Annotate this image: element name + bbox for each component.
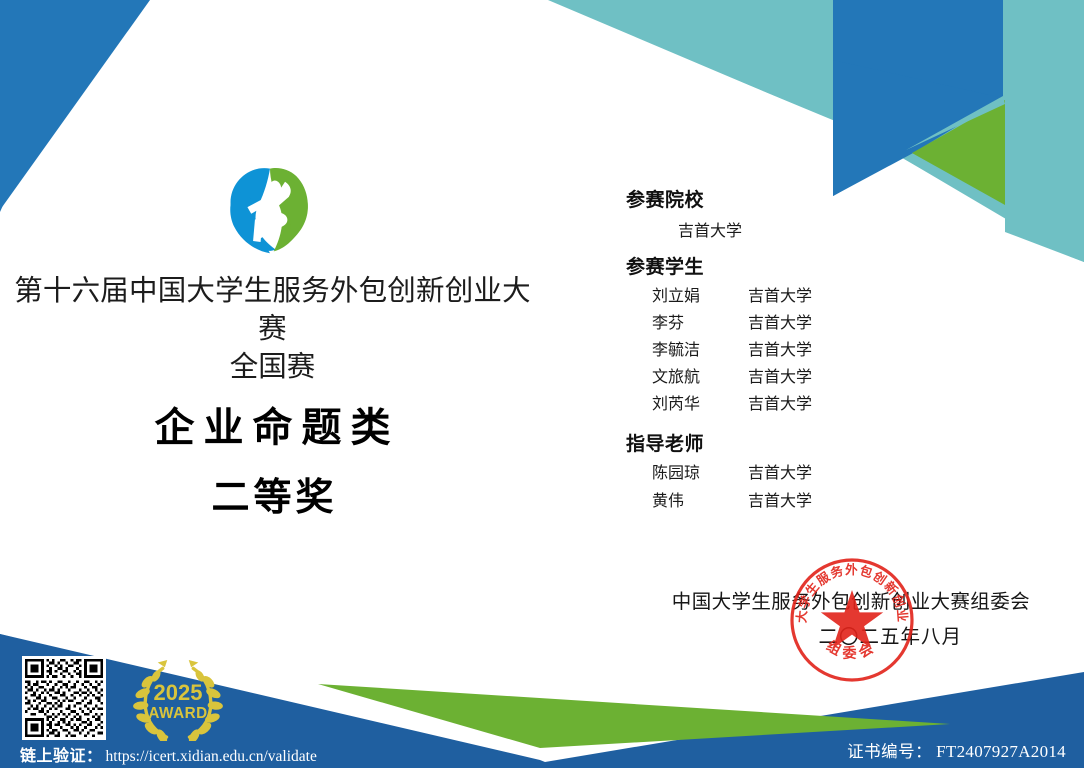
student-row: 李芬 吉首大学 xyxy=(600,310,1020,337)
shape-top-left-blue-band-2 xyxy=(0,0,150,210)
issuer-block: 中国大学生服务外包创新创业大赛组委会 二〇二五年八月 xyxy=(600,587,1030,652)
certificate-number: 证书编号： FT2407927A2014 xyxy=(847,738,1066,762)
student-row: 李毓洁 吉首大学 xyxy=(600,337,1020,364)
issuer-date: 二〇二五年八月 xyxy=(600,622,1030,652)
student-school: 吉首大学 xyxy=(748,391,812,418)
certificate-number-label: 证书编号： xyxy=(847,738,932,762)
qr-code-icon[interactable] xyxy=(25,659,103,737)
shape-top-left-blue xyxy=(0,0,400,215)
shape-top-teal-left xyxy=(78,0,540,180)
shape-right-blue-v xyxy=(833,60,1003,196)
contest-title-block: 第十六届中国大学生服务外包创新创业大赛 全国赛 xyxy=(0,272,545,386)
student-row: 刘立娟 吉首大学 xyxy=(600,283,1020,310)
contest-stage: 全国赛 xyxy=(0,348,545,386)
student-row: 刘芮华 吉首大学 xyxy=(600,391,1020,418)
school-name: 吉首大学 xyxy=(600,216,1020,247)
student-school: 吉首大学 xyxy=(748,283,812,310)
teacher-row: 黄伟 吉首大学 xyxy=(600,488,1020,516)
award-badge: 2025 AWARD xyxy=(130,655,226,741)
section-students: 参赛学生 刘立娟 吉首大学 李芬 吉首大学 李毓洁 吉首大学 文旅航 吉首大学 … xyxy=(600,253,1020,418)
issuer-organization: 中国大学生服务外包创新创业大赛组委会 xyxy=(600,587,1030,617)
teacher-row: 陈园琼 吉首大学 xyxy=(600,460,1020,488)
shape-right-teal-sliver xyxy=(906,96,1005,150)
award-category: 企业命题类 xyxy=(0,400,545,456)
student-name: 刘立娟 xyxy=(652,283,748,310)
section-heading-school: 参赛院校 xyxy=(600,186,1020,216)
badge-label: AWARD xyxy=(148,705,207,722)
verification-url[interactable]: https://icert.xidian.edu.cn/validate xyxy=(106,748,317,766)
verification-label: 链上验证： xyxy=(20,742,103,766)
participants-panel: 参赛院校 吉首大学 参赛学生 刘立娟 吉首大学 李芬 吉首大学 李毓洁 吉首大学… xyxy=(600,186,1020,518)
student-name: 李毓洁 xyxy=(652,337,748,364)
teacher-school: 吉首大学 xyxy=(748,488,812,516)
student-school: 吉首大学 xyxy=(748,337,812,364)
verification-qr[interactable] xyxy=(22,656,106,740)
shape-right-blue-ribbon-tail xyxy=(833,0,1003,196)
section-school: 参赛院校 吉首大学 xyxy=(600,186,1020,247)
contest-logo xyxy=(222,163,318,257)
teacher-name: 黄伟 xyxy=(652,488,748,516)
shape-right-blue-ribbon xyxy=(833,0,1003,196)
section-heading-teachers: 指导老师 xyxy=(600,430,1020,460)
award-block: 企业命题类 二等奖 xyxy=(0,400,545,526)
shape-top-white-left xyxy=(80,0,545,182)
certificate-number-value: FT2407927A2014 xyxy=(936,742,1066,762)
badge-year: 2025 xyxy=(154,680,203,705)
award-level: 二等奖 xyxy=(0,470,545,526)
student-name: 刘芮华 xyxy=(652,391,748,418)
shape-top-left-blue-band xyxy=(0,0,140,122)
certificate-page: 第十六届中国大学生服务外包创新创业大赛 全国赛 企业命题类 二等奖 参赛院校 吉… xyxy=(0,0,1084,768)
teacher-school: 吉首大学 xyxy=(748,460,812,488)
verification-line: 链上验证： https://icert.xidian.edu.cn/valida… xyxy=(20,742,317,766)
student-row: 文旅航 吉首大学 xyxy=(600,364,1020,391)
teacher-name: 陈园琼 xyxy=(652,460,748,488)
section-teachers: 指导老师 陈园琼 吉首大学 黄伟 吉首大学 xyxy=(600,430,1020,516)
contest-title: 第十六届中国大学生服务外包创新创业大赛 xyxy=(0,272,545,348)
student-name: 李芬 xyxy=(652,310,748,337)
section-heading-students: 参赛学生 xyxy=(600,253,1020,283)
student-school: 吉首大学 xyxy=(748,364,812,391)
laurel-award-badge-icon: 2025 AWARD xyxy=(130,655,226,741)
contest-emblem-icon xyxy=(222,163,318,257)
student-name: 文旅航 xyxy=(652,364,748,391)
student-school: 吉首大学 xyxy=(748,310,812,337)
